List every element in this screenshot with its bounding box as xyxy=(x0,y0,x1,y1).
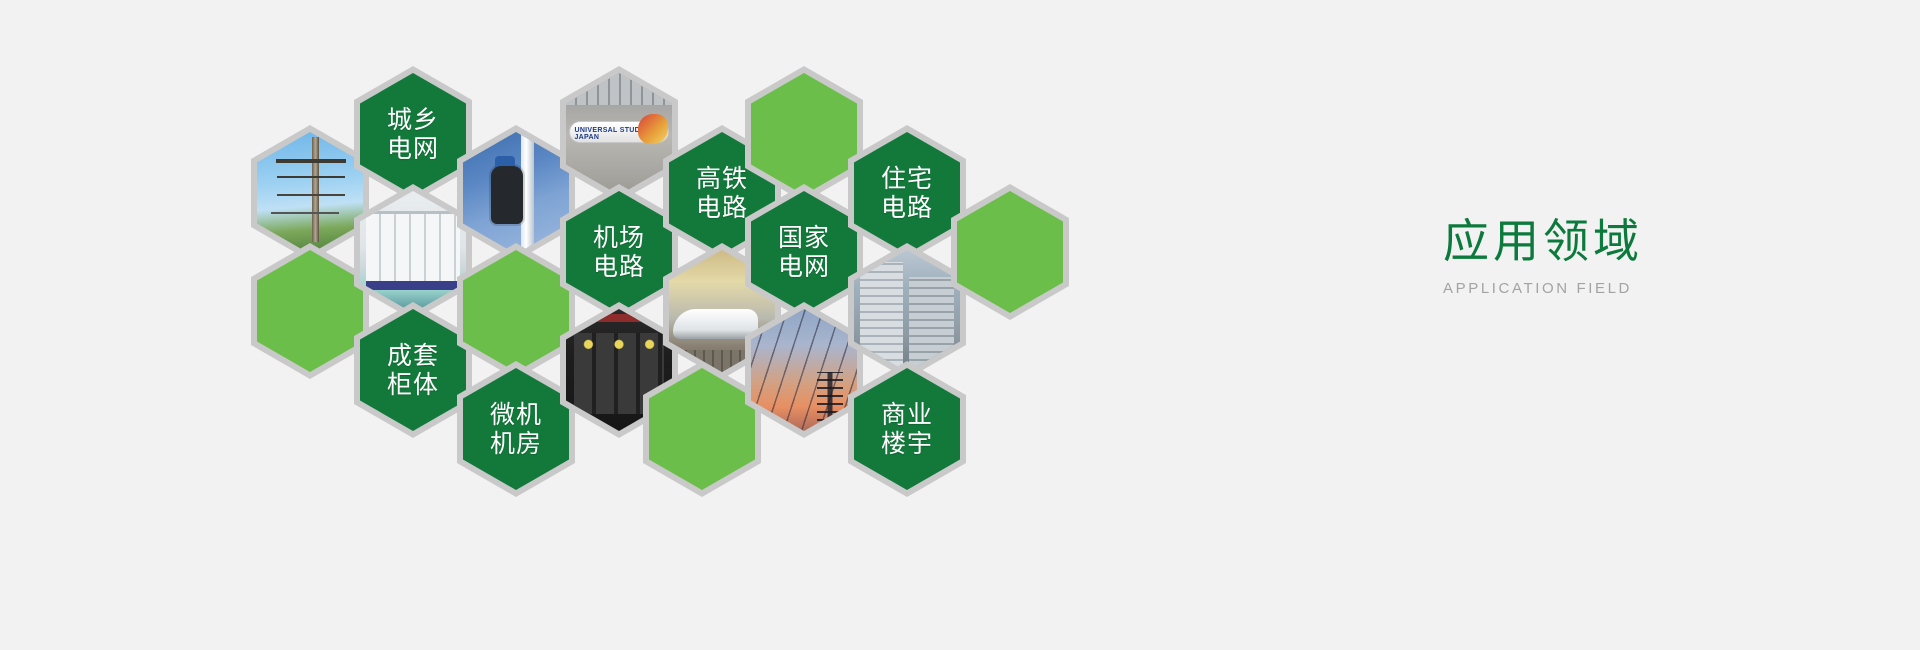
hex-photo-sunset-lines xyxy=(751,309,857,431)
hex-cell-switchgear[interactable] xyxy=(354,184,472,320)
hex-cell-computer-room[interactable]: 微机 机房 xyxy=(457,361,575,497)
hex-filler-light xyxy=(463,250,569,372)
sunset-power-lines-photo xyxy=(751,309,857,431)
hex-label-residential-circuit: 住宅 电路 xyxy=(881,164,933,222)
hex-photo-residential-buildings xyxy=(854,250,960,372)
hex-label-surface: 微机 机房 xyxy=(463,368,569,490)
hex-label-surface: 商业 楼宇 xyxy=(854,368,960,490)
hex-filler-light xyxy=(257,250,363,372)
switchgear-cabinets-photo xyxy=(360,191,466,313)
hex-cell-residential-bldg[interactable] xyxy=(848,243,966,379)
hex-label-surface: 机场 电路 xyxy=(566,191,672,313)
hex-photo-utility-pole xyxy=(257,132,363,254)
plane-livery-text: UNIVERSAL STUDIOS JAPAN xyxy=(574,127,672,141)
hex-filler-light xyxy=(957,191,1063,313)
hex-label-surface: 成套 柜体 xyxy=(360,309,466,431)
hex-label-hsr-circuit: 高铁 电路 xyxy=(696,164,748,222)
lineman-worker-photo xyxy=(463,132,569,254)
hex-photo-switchgear xyxy=(360,191,466,313)
hex-cell-urban-rural-grid[interactable]: 城乡 电网 xyxy=(354,66,472,202)
hex-label-state-grid: 国家 电网 xyxy=(778,223,830,281)
page-subtitle: APPLICATION FIELD xyxy=(1443,280,1863,297)
hex-cell-fill-b[interactable] xyxy=(457,243,575,379)
heading-block: 应用领域 APPLICATION FIELD xyxy=(1443,218,1863,297)
hex-cell-commercial[interactable]: 商业 楼宇 xyxy=(848,361,966,497)
utility-pole-photo xyxy=(257,132,363,254)
hex-label-urban-rural-grid: 城乡 电网 xyxy=(387,105,439,163)
hex-label-computer-room: 微机 机房 xyxy=(490,400,542,458)
hex-cell-lineman[interactable] xyxy=(457,125,575,261)
hex-cell-fill-e[interactable] xyxy=(951,184,1069,320)
hex-label-surface: 住宅 电路 xyxy=(854,132,960,254)
hex-filler-light xyxy=(751,73,857,195)
terminal-roof-shape xyxy=(566,73,672,105)
hex-cell-cabinet-set[interactable]: 成套 柜体 xyxy=(354,302,472,438)
hex-label-surface: 国家 电网 xyxy=(751,191,857,313)
hex-label-cabinet-set: 成套 柜体 xyxy=(387,341,439,399)
hex-cell-airport-circuit[interactable]: 机场 电路 xyxy=(560,184,678,320)
hex-label-surface: 城乡 电网 xyxy=(360,73,466,195)
hex-cell-fill-a[interactable] xyxy=(251,243,369,379)
hex-label-commercial-building: 商业 楼宇 xyxy=(881,400,933,458)
application-field-banner: 城乡 电网 成套 柜体 微机 机房 xyxy=(0,0,1920,650)
hex-label-airport-circuit: 机场 电路 xyxy=(593,223,645,281)
hex-filler-light xyxy=(649,368,755,490)
hex-cell-power-pole[interactable] xyxy=(251,125,369,261)
hex-photo-airport: UNIVERSAL STUDIOS JAPAN xyxy=(566,73,672,195)
hex-cell-airport-apron[interactable]: UNIVERSAL STUDIOS JAPAN xyxy=(560,66,678,202)
hex-cell-residential-circuit[interactable]: 住宅 电路 xyxy=(848,125,966,261)
page-title: 应用领域 xyxy=(1443,218,1863,264)
hex-photo-lineman xyxy=(463,132,569,254)
hexagon-honeycomb: 城乡 电网 成套 柜体 微机 机房 xyxy=(0,0,1100,650)
airport-apron-photo: UNIVERSAL STUDIOS JAPAN xyxy=(566,73,672,195)
residential-buildings-photo xyxy=(854,250,960,372)
